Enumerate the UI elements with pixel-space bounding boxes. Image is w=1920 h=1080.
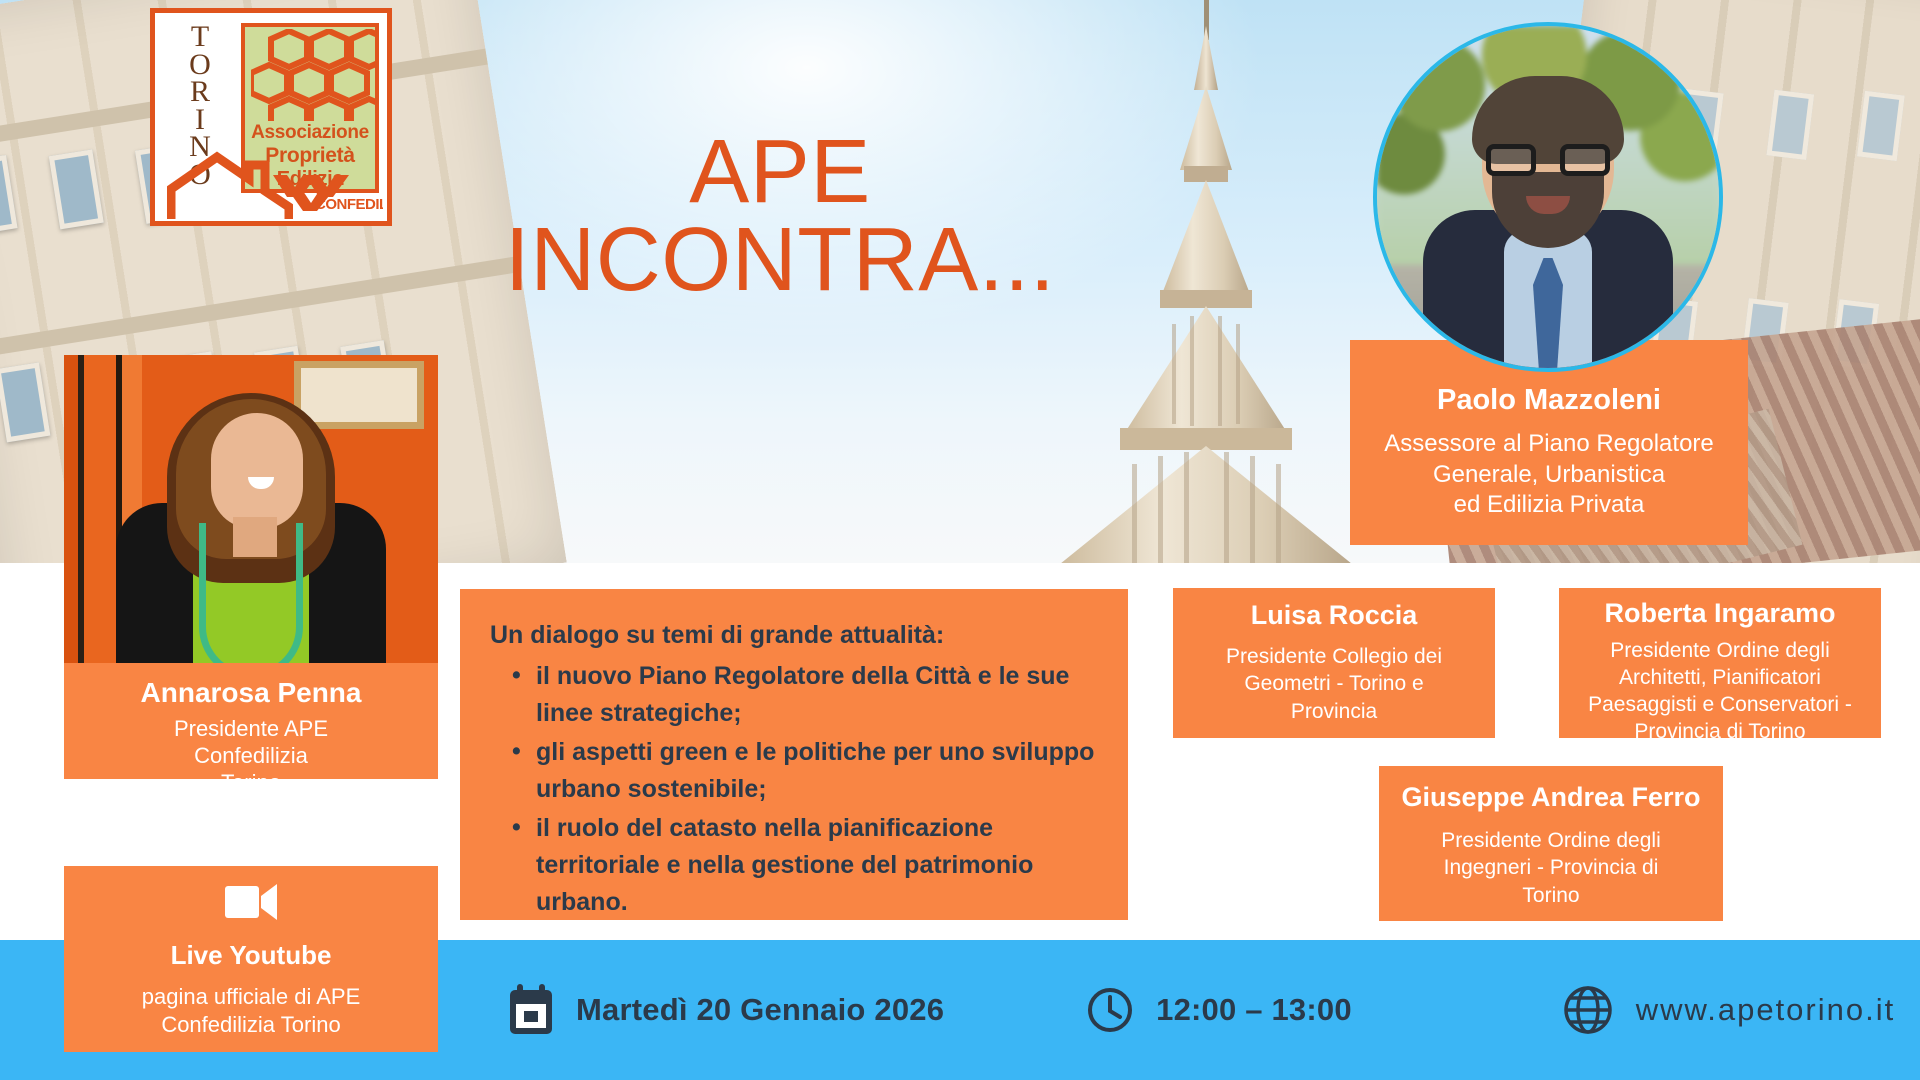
speaker-role: Presidente Collegio deiGeometri - Torino… bbox=[1173, 643, 1495, 725]
logo-line-associazione: Associazione bbox=[245, 123, 375, 142]
speaker-role: Presidente Ordine degliArchitetti, Piani… bbox=[1559, 638, 1881, 746]
live-detail: pagina ufficiale di APEConfedilizia Tori… bbox=[64, 983, 438, 1039]
confedilizia-mark-icon: CONFEDILIZIA bbox=[271, 171, 383, 213]
globe-icon bbox=[1562, 984, 1614, 1036]
speaker-name: Paolo Mazzoleni bbox=[1350, 384, 1748, 417]
photo-annarosa-penna bbox=[64, 355, 438, 663]
speaker-card-penna: Annarosa Penna Presidente APEConfedilizi… bbox=[64, 663, 438, 779]
honeycomb-icon bbox=[251, 29, 377, 121]
footer-website[interactable]: www.apetorino.it bbox=[1562, 984, 1895, 1036]
topic-item: il nuovo Piano Regolatore della Città e … bbox=[490, 658, 1098, 732]
footer-date-text: Martedì 20 Gennaio 2026 bbox=[576, 992, 944, 1028]
speaker-role: Presidente APEConfediliziaTorino bbox=[64, 716, 438, 796]
avatar-paolo-mazzoleni bbox=[1373, 22, 1723, 372]
topics-list: il nuovo Piano Regolatore della Città e … bbox=[490, 658, 1098, 921]
speaker-role: Presidente Ordine degliIngegneri - Provi… bbox=[1379, 827, 1723, 909]
title-line-1: APE bbox=[689, 122, 871, 222]
footer-date: Martedì 20 Gennaio 2026 bbox=[508, 984, 944, 1036]
speaker-name: Giuseppe Andrea Ferro bbox=[1379, 782, 1723, 813]
speaker-name: Luisa Roccia bbox=[1173, 600, 1495, 631]
calendar-icon bbox=[508, 984, 554, 1036]
topics-lead: Un dialogo su temi di grande attualità: bbox=[490, 621, 1098, 650]
speaker-name: Roberta Ingaramo bbox=[1559, 598, 1881, 629]
footer-website-text: www.apetorino.it bbox=[1636, 992, 1895, 1028]
svg-text:CONFEDILIZIA: CONFEDILIZIA bbox=[315, 196, 383, 213]
live-title: Live Youtube bbox=[64, 940, 438, 971]
video-camera-icon bbox=[225, 884, 277, 920]
speaker-card-ingaramo: Roberta Ingaramo Presidente Ordine degli… bbox=[1559, 588, 1881, 738]
speaker-role: Assessore al Piano RegolatoreGenerale, U… bbox=[1350, 429, 1748, 521]
page-title: APE INCONTRA... bbox=[430, 128, 1130, 304]
clock-icon bbox=[1086, 986, 1134, 1034]
speaker-name: Annarosa Penna bbox=[64, 677, 438, 709]
ape-confedilizia-logo: TORINO Associazione Proprietà Edilizia bbox=[150, 8, 392, 226]
live-youtube-card[interactable]: Live Youtube pagina ufficiale di APEConf… bbox=[64, 866, 438, 1052]
topic-item: il ruolo del catasto nella pianificazion… bbox=[490, 810, 1098, 921]
speaker-card-ferro: Giuseppe Andrea Ferro Presidente Ordine … bbox=[1379, 766, 1723, 921]
footer-time: 12:00 – 13:00 bbox=[1086, 986, 1352, 1034]
topics-box: Un dialogo su temi di grande attualità: … bbox=[460, 589, 1128, 920]
topic-item: gli aspetti green e le politiche per uno… bbox=[490, 734, 1098, 808]
speaker-card-roccia: Luisa Roccia Presidente Collegio deiGeom… bbox=[1173, 588, 1495, 738]
title-line-2: INCONTRA... bbox=[430, 216, 1130, 304]
footer-time-text: 12:00 – 13:00 bbox=[1156, 992, 1352, 1028]
